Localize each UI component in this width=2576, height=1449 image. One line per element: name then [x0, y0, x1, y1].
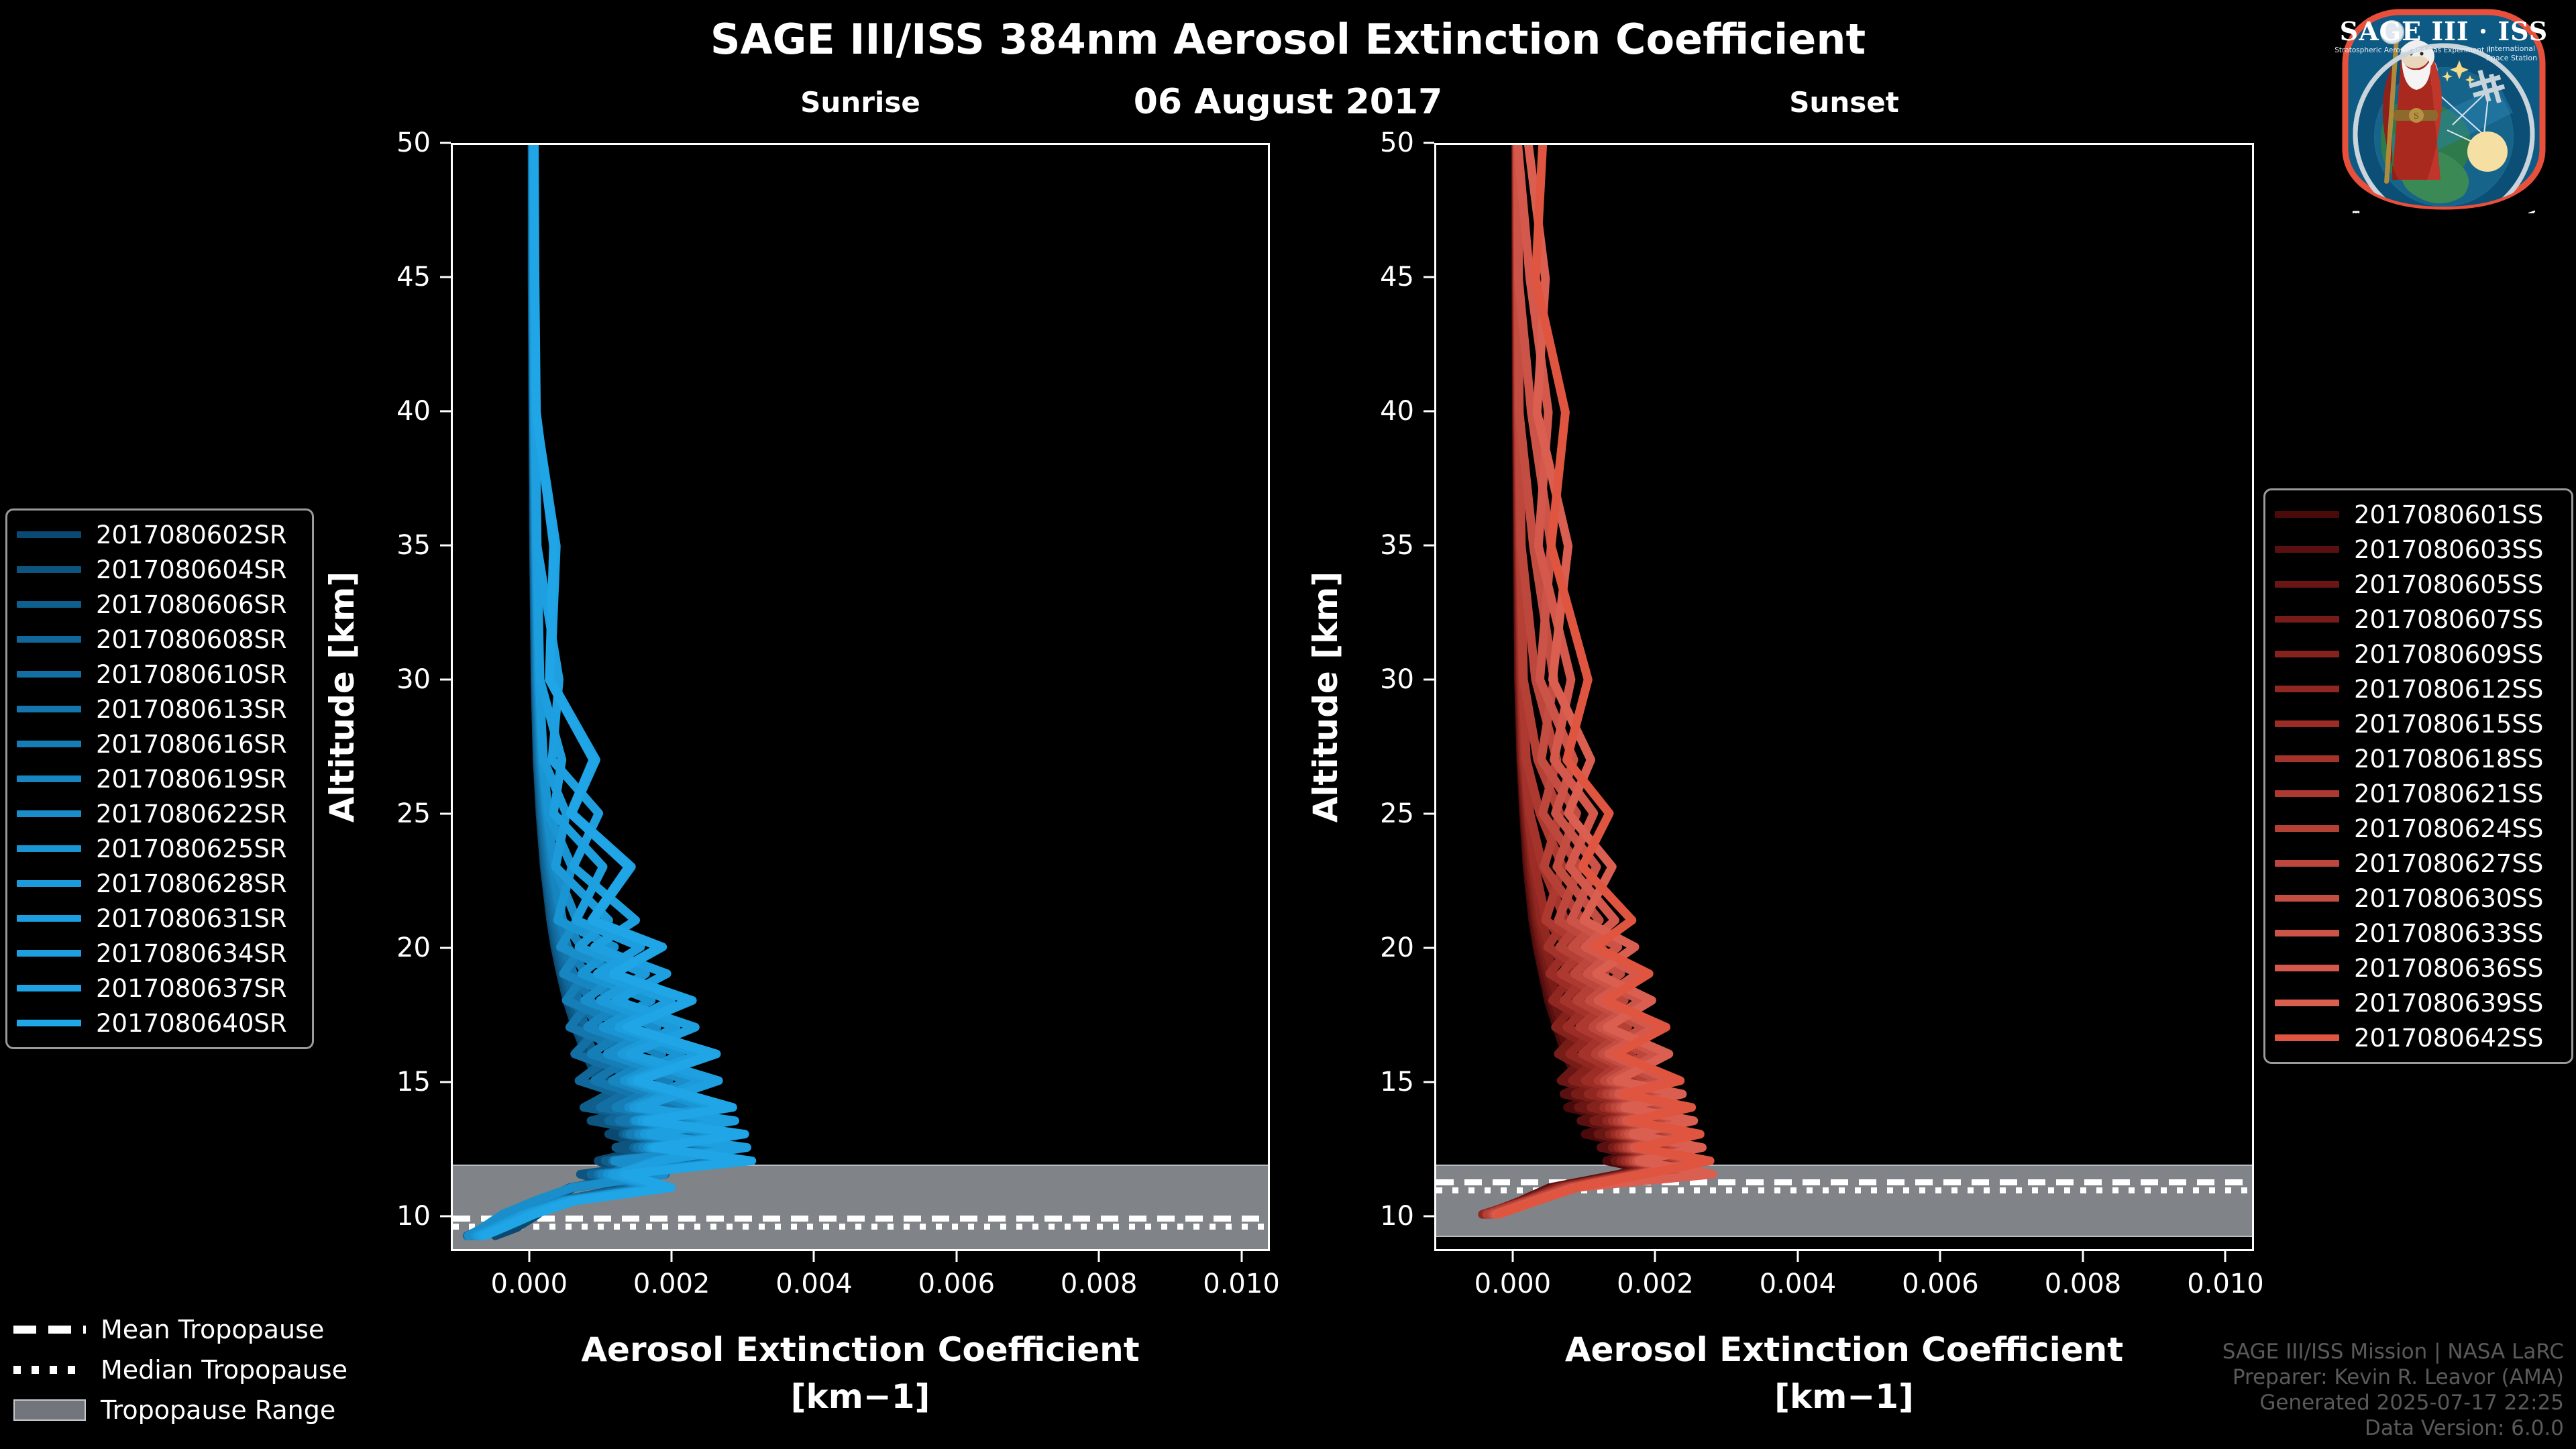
sunrise-legend-item[interactable]: 2017080622SR [17, 796, 303, 831]
sunrise-legend-item[interactable]: 2017080604SR [17, 552, 303, 587]
sunset-legend-label: 2017080601SS [2354, 500, 2543, 529]
y-tick-label-20: 20 [323, 932, 431, 963]
sunset-legend-item[interactable]: 2017080636SS [2275, 951, 2562, 985]
sunrise-legend-item[interactable]: 2017080625SR [17, 831, 303, 866]
sunset-legend[interactable]: 2017080601SS2017080603SS2017080605SS2017… [2263, 488, 2573, 1064]
x-tick-mark-0.006 [1939, 1251, 1941, 1262]
line-swatch-icon [2275, 581, 2339, 588]
y-tick-mark-15 [440, 1081, 451, 1083]
sunset-legend-label: 2017080621SS [2354, 780, 2543, 808]
x-tick-label-0.000: 0.000 [491, 1269, 568, 1299]
tropopause-legend: Mean Tropopause Median Tropopause Tropop… [13, 1309, 362, 1430]
x-tick-mark-0.008 [2082, 1251, 2084, 1262]
sunset-legend-label: 2017080630SS [2354, 884, 2543, 913]
y-tick-mark-15 [1424, 1081, 1434, 1083]
x-tick-mark-0.008 [1098, 1251, 1100, 1262]
patch-ring-text: BALL · NASA LANGLEY RESEARCH CENTER · TA… [2350, 210, 2538, 213]
sunrise-legend-label: 2017080616SR [96, 730, 287, 759]
sunset-legend-item[interactable]: 2017080609SS [2275, 637, 2562, 672]
x-tick-mark-0.002 [671, 1251, 673, 1262]
x-tick-mark-0.000 [1511, 1251, 1513, 1262]
sunrise-legend-label: 2017080613SR [96, 695, 287, 724]
legend-item-tropopause-range: Tropopause Range [13, 1390, 362, 1430]
sunset-legend-item[interactable]: 2017080633SS [2275, 916, 2562, 951]
line-swatch-icon [17, 706, 81, 712]
line-swatch-icon [2275, 825, 2339, 832]
credits-data-version: Data Version: 6.0.0 [2222, 1415, 2564, 1441]
line-swatch-icon [17, 636, 81, 643]
y-tick-mark-20 [440, 947, 451, 949]
sunset-legend-label: 2017080642SS [2354, 1024, 2543, 1053]
sunrise-legend-label: 2017080631SR [96, 904, 287, 933]
line-swatch-icon [2275, 511, 2339, 518]
line-swatch-icon [2275, 720, 2339, 727]
line-swatch-icon [2275, 895, 2339, 902]
line-swatch-icon [2275, 755, 2339, 762]
sunset-legend-label: 2017080612SS [2354, 675, 2543, 704]
dotted-line-icon [13, 1366, 86, 1374]
line-swatch-icon [17, 985, 81, 991]
y-tick-label-20: 20 [1307, 932, 1414, 963]
sunrise-legend-label: 2017080604SR [96, 555, 287, 584]
sunrise-plot-area [453, 145, 1268, 1249]
sunrise-legend-label: 2017080625SR [96, 835, 287, 863]
patch-subtitle-left: Stratospheric Aerosol and Gas Experiment… [2334, 46, 2493, 54]
line-swatch-icon [17, 950, 81, 957]
line-swatch-icon [2275, 930, 2339, 936]
dashed-line-icon [13, 1326, 86, 1334]
sunrise-legend-item[interactable]: 2017080616SR [17, 727, 303, 761]
y-tick-mark-35 [440, 545, 451, 547]
line-swatch-icon [17, 1020, 81, 1026]
sunrise-legend-item[interactable]: 2017080637SR [17, 971, 303, 1006]
svg-text:S: S [2414, 111, 2419, 121]
line-swatch-icon [2275, 860, 2339, 867]
filled-rect-icon [13, 1399, 86, 1421]
x-axis-units-sunset: [km−1] [1434, 1377, 2254, 1416]
y-tick-label-40: 40 [1307, 396, 1414, 427]
x-tick-mark-0.002 [1654, 1251, 1656, 1262]
x-tick-mark-0.006 [955, 1251, 957, 1262]
legend-item-median-tropopause: Median Tropopause [13, 1350, 362, 1390]
x-tick-label-0.002: 0.002 [1617, 1269, 1694, 1299]
line-swatch-icon [17, 810, 81, 817]
x-tick-label-0.004: 0.004 [1760, 1269, 1837, 1299]
x-tick-label-0.008: 0.008 [1061, 1269, 1138, 1299]
y-tick-mark-30 [1424, 679, 1434, 681]
y-tick-label-45: 45 [1307, 262, 1414, 292]
legend-label-median: Median Tropopause [101, 1355, 347, 1385]
x-tick-label-0.006: 0.006 [918, 1269, 996, 1299]
x-tick-mark-0.004 [1796, 1251, 1799, 1262]
sunrise-legend-label: 2017080634SR [96, 939, 287, 968]
y-axis-title-sunset: Altitude [km] [1309, 556, 1342, 838]
sunrise-legend-label: 2017080628SR [96, 869, 287, 898]
sunrise-legend-label: 2017080606SR [96, 590, 287, 619]
sunrise-legend-item[interactable]: 2017080619SR [17, 761, 303, 796]
sunset-legend-label: 2017080603SS [2354, 535, 2543, 564]
sunset-legend-item[interactable]: 2017080627SS [2275, 846, 2562, 881]
sunrise-legend-label: 2017080637SR [96, 974, 287, 1003]
y-tick-label-50: 50 [1307, 127, 1414, 158]
line-swatch-icon [17, 845, 81, 852]
x-tick-label-0.000: 0.000 [1474, 1269, 1552, 1299]
sunrise-legend-label: 2017080602SR [96, 521, 287, 549]
y-tick-mark-25 [1424, 813, 1434, 815]
y-tick-mark-10 [440, 1216, 451, 1218]
y-tick-mark-50 [440, 142, 451, 144]
sage-iii-iss-mission-patch-logo: S SAGE III · ISS Stratospheric Aerosol a… [2328, 5, 2560, 213]
figure-canvas: SAGE III/ISS 384nm Aerosol Extinction Co… [0, 0, 2576, 1449]
sunset-legend-label: 2017080618SS [2354, 745, 2543, 773]
line-swatch-icon [17, 915, 81, 922]
sunset-legend-item[interactable]: 2017080605SS [2275, 567, 2562, 602]
sunrise-legend-item[interactable]: 2017080613SR [17, 692, 303, 727]
sunset-panel-title: Sunset [1434, 86, 2254, 119]
y-tick-label-40: 40 [323, 396, 431, 427]
sunset-legend-label: 2017080615SS [2354, 710, 2543, 739]
sunset-plot-panel [1434, 143, 2254, 1251]
x-tick-label-0.010: 0.010 [2187, 1269, 2264, 1299]
sunset-legend-item[interactable]: 2017080603SS [2275, 532, 2562, 567]
sunset-legend-item[interactable]: 2017080618SS [2275, 741, 2562, 776]
sunset-legend-item[interactable]: 2017080612SS [2275, 672, 2562, 706]
sunset-legend-label: 2017080627SS [2354, 849, 2543, 878]
y-tick-mark-30 [440, 679, 451, 681]
y-tick-mark-45 [440, 276, 451, 278]
credits-mission: SAGE III/ISS Mission | NASA LaRC [2222, 1339, 2564, 1364]
x-axis-title-sunset: Aerosol Extinction Coefficient [1434, 1330, 2254, 1369]
y-tick-label-50: 50 [323, 127, 431, 158]
x-tick-label-0.006: 0.006 [1902, 1269, 1979, 1299]
patch-subtitle-right-2: Space Station [2486, 54, 2537, 62]
y-tick-mark-20 [1424, 947, 1434, 949]
y-axis-title-sunrise: Altitude [km] [325, 556, 359, 838]
line-swatch-icon [17, 566, 81, 573]
sunrise-legend-label: 2017080610SR [96, 660, 287, 689]
x-tick-mark-0.000 [528, 1251, 530, 1262]
sunset-legend-label: 2017080605SS [2354, 570, 2543, 599]
y-tick-label-45: 45 [323, 262, 431, 292]
y-tick-mark-40 [440, 411, 451, 413]
line-swatch-icon [2275, 651, 2339, 657]
sunrise-legend-item[interactable]: 2017080628SR [17, 866, 303, 901]
y-tick-mark-35 [1424, 545, 1434, 547]
line-swatch-icon [2275, 546, 2339, 553]
sunrise-legend-item[interactable]: 2017080610SR [17, 657, 303, 692]
sunrise-plot-panel [451, 143, 1270, 1251]
sunrise-legend-label: 2017080622SR [96, 800, 287, 828]
y-tick-mark-10 [1424, 1216, 1434, 1218]
x-tick-mark-0.010 [1240, 1251, 1242, 1262]
page-title: SAGE III/ISS 384nm Aerosol Extinction Co… [0, 15, 2576, 64]
x-axis-units-sunrise: [km−1] [451, 1377, 1270, 1416]
sunrise-legend-item[interactable]: 2017080608SR [17, 622, 303, 657]
x-axis-title-sunrise: Aerosol Extinction Coefficient [451, 1330, 1270, 1369]
line-swatch-icon [17, 531, 81, 538]
line-swatch-icon [17, 775, 81, 782]
sunrise-legend-item[interactable]: 2017080640SR [17, 1006, 303, 1040]
line-swatch-icon [2275, 965, 2339, 971]
sunrise-legend-item[interactable]: 2017080606SR [17, 587, 303, 622]
sunset-legend-item[interactable]: 2017080639SS [2275, 985, 2562, 1020]
y-tick-label-10: 10 [323, 1201, 431, 1232]
sunset-plot-area [1436, 145, 2252, 1249]
sunset-profile-lines [1436, 145, 2252, 1249]
y-tick-label-10: 10 [1307, 1201, 1414, 1232]
sunset-legend-item[interactable]: 2017080642SS [2275, 1020, 2562, 1055]
legend-label-mean: Mean Tropopause [101, 1315, 324, 1344]
line-swatch-icon [2275, 790, 2339, 797]
line-swatch-icon [17, 880, 81, 887]
sunset-legend-item[interactable]: 2017080615SS [2275, 706, 2562, 741]
line-swatch-icon [2275, 616, 2339, 623]
sunset-legend-label: 2017080607SS [2354, 605, 2543, 634]
legend-item-mean-tropopause: Mean Tropopause [13, 1309, 362, 1350]
line-swatch-icon [2275, 1000, 2339, 1006]
sunrise-legend-item[interactable]: 2017080634SR [17, 936, 303, 971]
x-tick-label-0.004: 0.004 [775, 1269, 853, 1299]
y-tick-mark-50 [1424, 142, 1434, 144]
sunset-legend-label: 2017080633SS [2354, 919, 2543, 948]
x-tick-mark-0.004 [813, 1251, 815, 1262]
sunrise-legend-item[interactable]: 2017080631SR [17, 901, 303, 936]
x-tick-label-0.010: 0.010 [1203, 1269, 1280, 1299]
credits-preparer: Preparer: Kevin R. Leavor (AMA) [2222, 1364, 2564, 1390]
sunrise-legend-label: 2017080619SR [96, 765, 287, 794]
sunrise-legend-item[interactable]: 2017080602SR [17, 517, 303, 552]
sunset-legend-label: 2017080639SS [2354, 989, 2543, 1018]
x-tick-label-0.002: 0.002 [633, 1269, 710, 1299]
patch-title: SAGE III · ISS [2340, 16, 2548, 46]
credits-block: SAGE III/ISS Mission | NASA LaRC Prepare… [2222, 1339, 2564, 1441]
y-tick-mark-25 [440, 813, 451, 815]
patch-subtitle-right-1: International [2488, 44, 2535, 53]
y-tick-mark-40 [1424, 411, 1434, 413]
sunrise-legend-label: 2017080640SR [96, 1009, 287, 1038]
sunset-legend-item[interactable]: 2017080621SS [2275, 776, 2562, 811]
line-swatch-icon [2275, 1034, 2339, 1041]
sunrise-panel-title: Sunrise [451, 86, 1270, 119]
line-swatch-icon [17, 741, 81, 747]
sunrise-legend-label: 2017080608SR [96, 625, 287, 654]
sunset-legend-item[interactable]: 2017080607SS [2275, 602, 2562, 637]
line-swatch-icon [17, 601, 81, 608]
line-swatch-icon [17, 671, 81, 678]
sunset-legend-item[interactable]: 2017080601SS [2275, 497, 2562, 532]
sunrise-legend[interactable]: 2017080602SR2017080604SR2017080606SR2017… [5, 508, 314, 1049]
legend-label-range: Tropopause Range [101, 1395, 335, 1425]
sunset-legend-label: 2017080636SS [2354, 954, 2543, 983]
y-tick-label-15: 15 [323, 1067, 431, 1097]
sunrise-profile-lines [453, 145, 1268, 1249]
sunset-legend-label: 2017080624SS [2354, 814, 2543, 843]
sunset-legend-item[interactable]: 2017080630SS [2275, 881, 2562, 916]
y-tick-mark-45 [1424, 276, 1434, 278]
credits-generated: Generated 2025-07-17 22:25 [2222, 1390, 2564, 1415]
x-tick-label-0.008: 0.008 [2045, 1269, 2122, 1299]
x-tick-mark-0.010 [2224, 1251, 2226, 1262]
y-tick-label-15: 15 [1307, 1067, 1414, 1097]
sunset-legend-item[interactable]: 2017080624SS [2275, 811, 2562, 846]
sunset-legend-label: 2017080609SS [2354, 640, 2543, 669]
line-swatch-icon [2275, 686, 2339, 692]
